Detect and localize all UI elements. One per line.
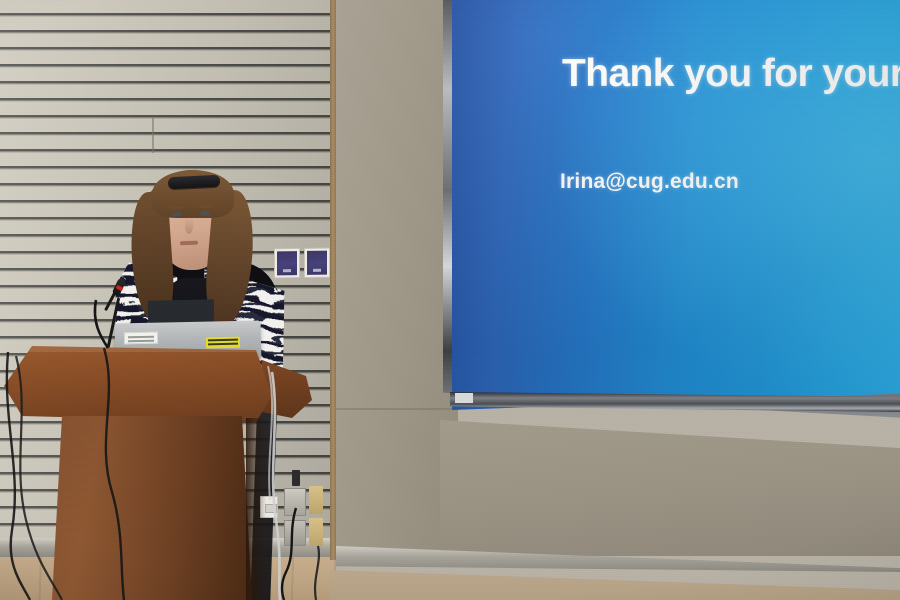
- podium-top-highlight: [4, 346, 272, 422]
- laptop-yellow-sticker: [206, 337, 240, 349]
- eye-right: [200, 211, 210, 216]
- podium-body: [52, 416, 252, 600]
- nose: [185, 218, 193, 234]
- eye-left: [172, 212, 182, 217]
- mouth: [180, 241, 198, 246]
- presentation-photo: Thank you for your att Irina@cug.edu.cn: [0, 0, 900, 600]
- laptop-asset-label: [124, 332, 158, 345]
- podium-edge-shadow: [246, 418, 266, 600]
